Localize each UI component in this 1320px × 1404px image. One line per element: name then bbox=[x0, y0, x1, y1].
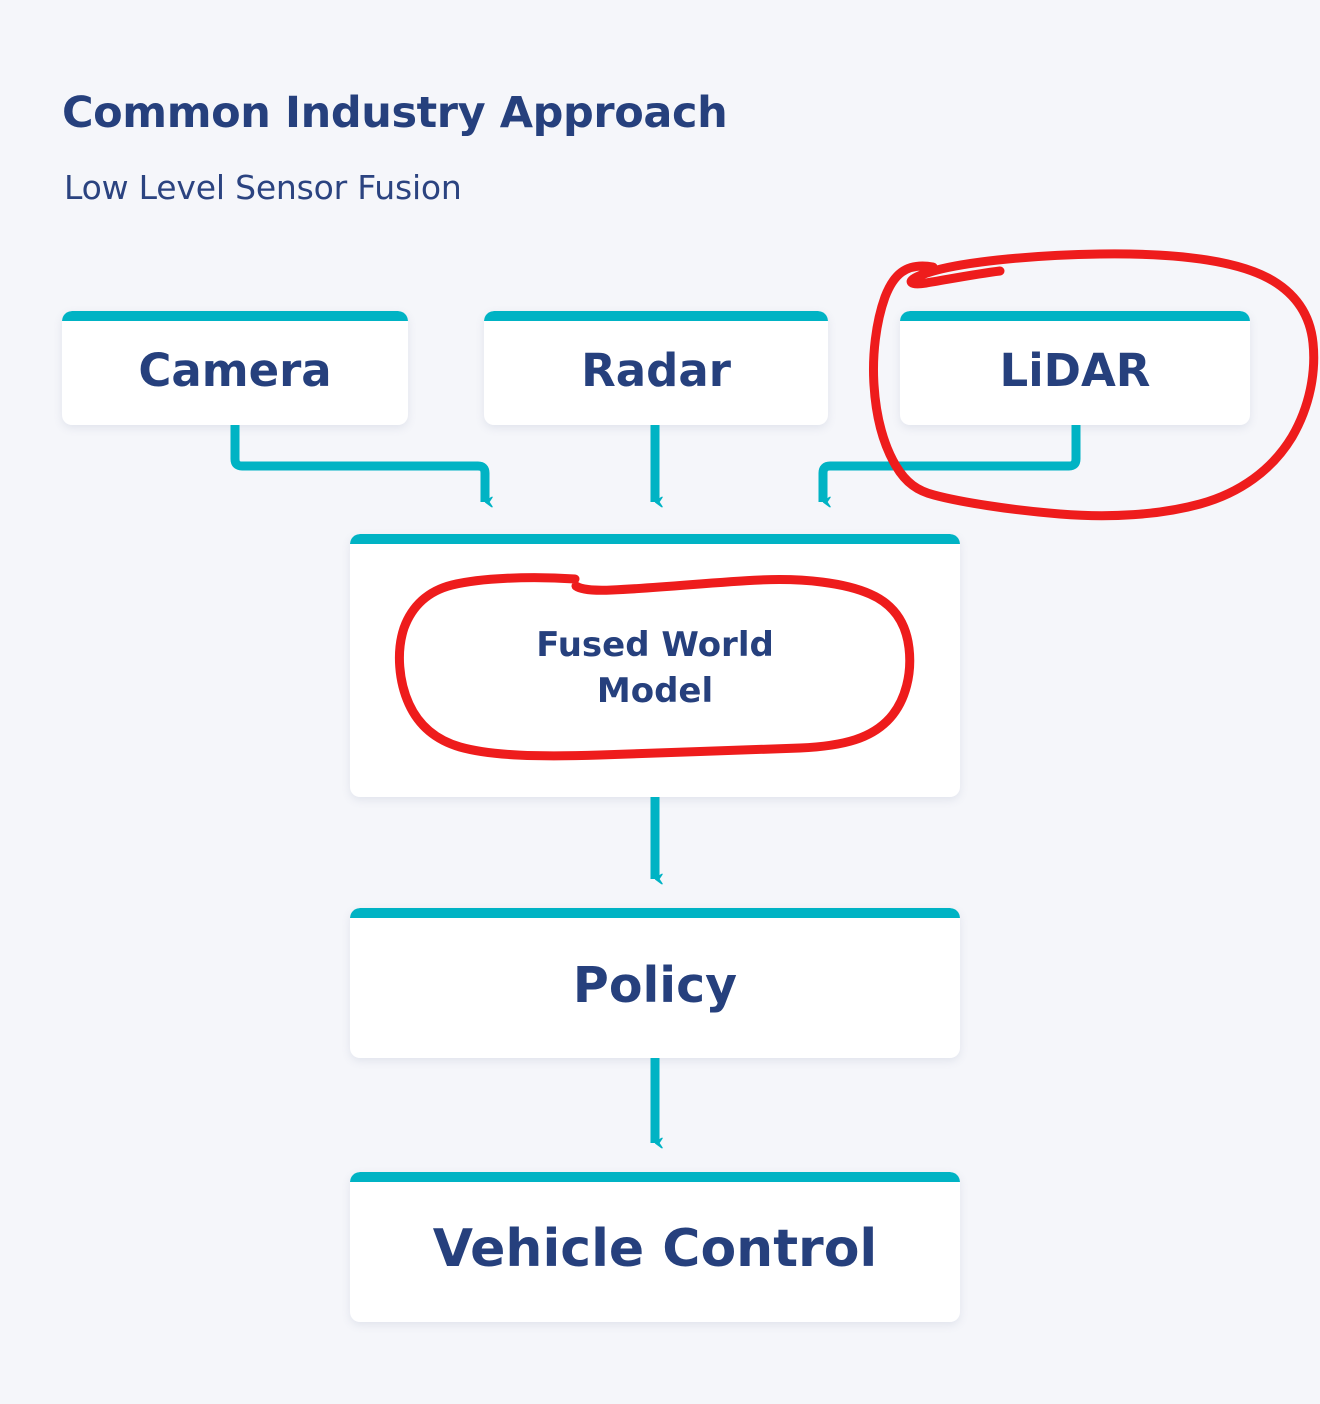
node-accent-bar bbox=[350, 1172, 960, 1182]
node-fused-label-line-2: Model bbox=[597, 671, 713, 711]
node-accent-bar bbox=[350, 534, 960, 544]
node-vehicle-control[interactable]: Vehicle Control bbox=[350, 1172, 960, 1322]
page-title: Common Industry Approach bbox=[62, 88, 727, 138]
edge-camera-to-fused bbox=[235, 425, 485, 502]
node-vehicle-control-label: Vehicle Control bbox=[433, 1213, 878, 1280]
node-accent-bar bbox=[62, 311, 408, 321]
node-policy-label: Policy bbox=[573, 951, 737, 1015]
node-radar[interactable]: Radar bbox=[484, 311, 828, 425]
node-radar-label: Radar bbox=[581, 338, 731, 397]
node-lidar-label: LiDAR bbox=[1000, 338, 1151, 397]
node-accent-bar bbox=[900, 311, 1250, 321]
node-accent-bar bbox=[350, 908, 960, 918]
page-subtitle: Low Level Sensor Fusion bbox=[64, 168, 462, 207]
node-lidar[interactable]: LiDAR bbox=[900, 311, 1250, 425]
node-camera-label: Camera bbox=[138, 338, 331, 397]
node-camera[interactable]: Camera bbox=[62, 311, 408, 425]
node-policy[interactable]: Policy bbox=[350, 908, 960, 1058]
node-accent-bar bbox=[484, 311, 828, 321]
diagram-canvas: Common Industry Approach Low Level Senso… bbox=[0, 0, 1320, 1404]
node-fused-label-line-1: Fused World bbox=[536, 625, 774, 665]
edge-lidar-to-fused bbox=[823, 425, 1076, 502]
node-fused-world-model-label: Fused World Model bbox=[536, 617, 774, 713]
node-fused-world-model[interactable]: Fused World Model bbox=[350, 534, 960, 797]
